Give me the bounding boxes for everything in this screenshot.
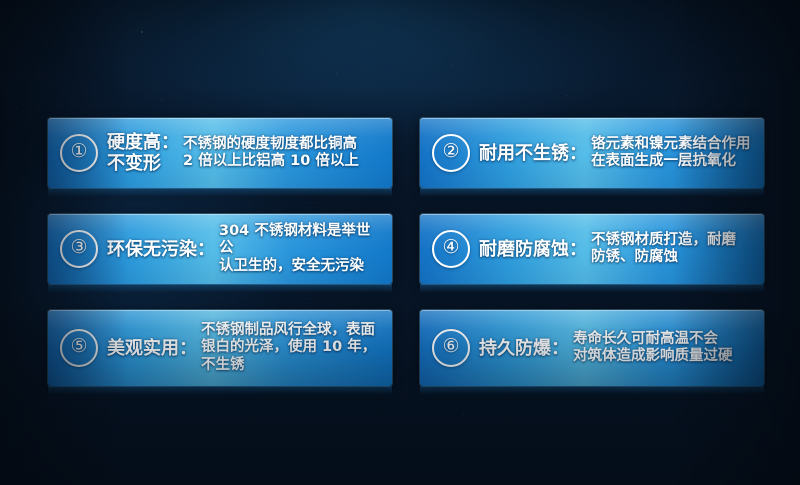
feature-number-badge: ② [432,134,470,172]
feature-poster: ① 硬度高： 不变形 不锈钢的硬度韧度都比铜高 2 倍以上比铝高 10 倍以上 … [0,0,800,485]
feature-grid: ① 硬度高： 不变形 不锈钢的硬度韧度都比铜高 2 倍以上比铝高 10 倍以上 … [48,118,764,386]
feature-number-badge: ⑤ [60,329,98,367]
feature-description: 不锈钢的硬度韧度都比铜高 2 倍以上比铝高 10 倍以上 [183,136,382,171]
feature-title: 耐用不生锈： [479,143,587,164]
feature-description: 304 不锈钢材料是举世公 认卫生的，安全无污染 [219,223,382,276]
feature-description: 铬元素和镍元素结合作用 在表面生成一层抗氧化 [591,136,754,171]
feature-number-badge: ① [60,134,98,172]
feature-card-2[interactable]: ② 耐用不生锈： 铬元素和镍元素结合作用 在表面生成一层抗氧化 [420,118,764,188]
feature-card-1[interactable]: ① 硬度高： 不变形 不锈钢的硬度韧度都比铜高 2 倍以上比铝高 10 倍以上 [48,118,392,188]
feature-card-6[interactable]: ⑥ 持久防爆： 寿命长久可耐高温不会 对筑体造成影响质量过硬 [420,310,764,386]
feature-description: 寿命长久可耐高温不会 对筑体造成影响质量过硬 [573,331,754,366]
feature-number-badge: ⑥ [432,329,470,367]
feature-number-badge: ③ [60,230,98,268]
feature-card-3[interactable]: ③ 环保无污染： 304 不锈钢材料是举世公 认卫生的，安全无污染 [48,214,392,284]
feature-description: 不锈钢材质打造，耐磨 防锈、防腐蚀 [591,232,754,267]
feature-title: 美观实用： [107,338,197,359]
feature-title: 持久防爆： [479,338,569,359]
feature-title: 耐磨防腐蚀： [479,239,587,260]
feature-card-4[interactable]: ④ 耐磨防腐蚀： 不锈钢材质打造，耐磨 防锈、防腐蚀 [420,214,764,284]
feature-card-5[interactable]: ⑤ 美观实用： 不锈钢制品风行全球，表面 银白的光泽，使用 10 年， 不生锈 [48,310,392,386]
feature-description: 不锈钢制品风行全球，表面 银白的光泽，使用 10 年， 不生锈 [201,322,382,375]
feature-number-badge: ④ [432,230,470,268]
feature-title: 环保无污染： [107,239,215,260]
feature-title: 硬度高： 不变形 [107,132,179,174]
